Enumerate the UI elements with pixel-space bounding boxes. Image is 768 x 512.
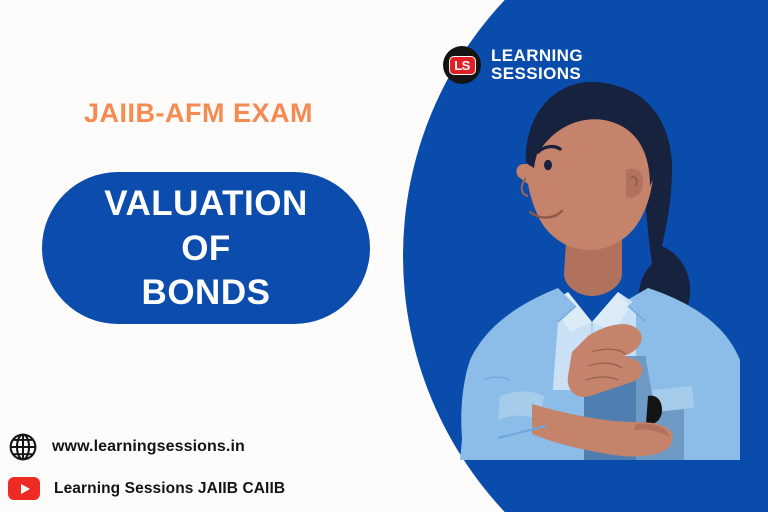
website-label: www.learningsessions.in [52, 438, 245, 456]
brand-name-line2: SESSIONS [491, 65, 583, 83]
youtube-icon [8, 477, 40, 500]
ls-badge-label: LS [454, 59, 470, 72]
ls-badge-icon: LS [443, 46, 481, 84]
exam-kicker: JAIIB-AFM EXAM [84, 98, 313, 129]
title-line-1: VALUATION [104, 182, 307, 226]
footer-website-row[interactable]: www.learningsessions.in [8, 432, 245, 462]
youtube-channel-label: Learning Sessions JAIIB CAIIB [54, 480, 285, 498]
title-line-2: OF [181, 227, 231, 271]
globe-icon [8, 432, 38, 462]
ls-badge-inner: LS [449, 56, 476, 75]
brand-logo: LS LEARNING SESSIONS [443, 46, 583, 84]
youtube-play-triangle [21, 484, 30, 494]
businesswoman-illustration [440, 60, 740, 460]
title-line-3: BONDS [142, 271, 271, 315]
businesswoman-svg [440, 60, 740, 460]
title-pill: VALUATION OF BONDS [42, 172, 370, 324]
eye [544, 160, 552, 170]
brand-wordmark: LEARNING SESSIONS [491, 47, 583, 83]
footer-youtube-row[interactable]: Learning Sessions JAIIB CAIIB [8, 477, 285, 500]
slide-canvas: JAIIB-AFM EXAM VALUATION OF BONDS LS LEA… [0, 0, 768, 512]
brand-name-line1: LEARNING [491, 47, 583, 65]
